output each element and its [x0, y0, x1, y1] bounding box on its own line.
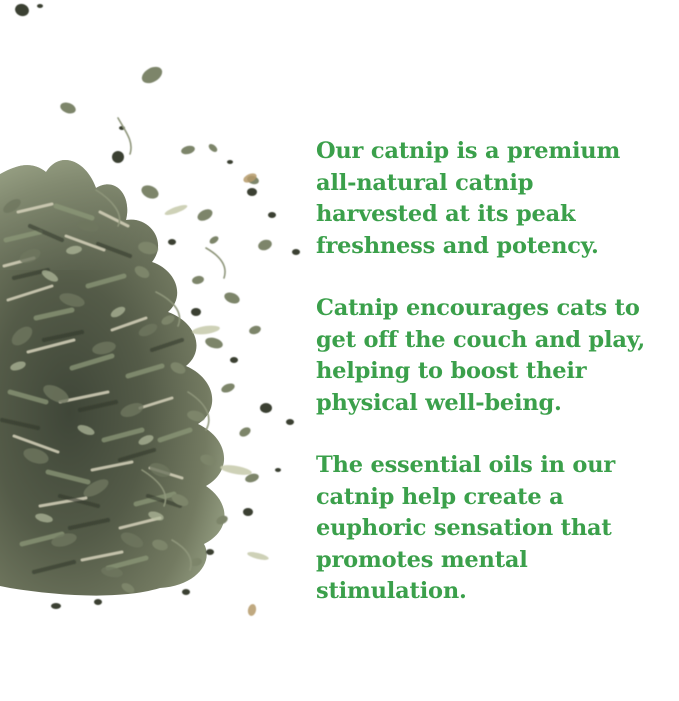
catnip-pile-image	[0, 0, 320, 620]
copy-paragraph-physical-wellbeing: Catnip encourages cats to get off the co…	[316, 293, 666, 419]
product-infographic: Our catnip is a premium all-natural catn…	[0, 0, 679, 701]
copy-paragraph-mental-stimulation: The essential oils in our catnip help cr…	[316, 450, 666, 608]
marketing-copy-block: Our catnip is a premium all-natural catn…	[316, 136, 666, 608]
copy-paragraph-premium-quality: Our catnip is a premium all-natural catn…	[316, 136, 666, 262]
catnip-pile-illustration	[0, 0, 320, 620]
